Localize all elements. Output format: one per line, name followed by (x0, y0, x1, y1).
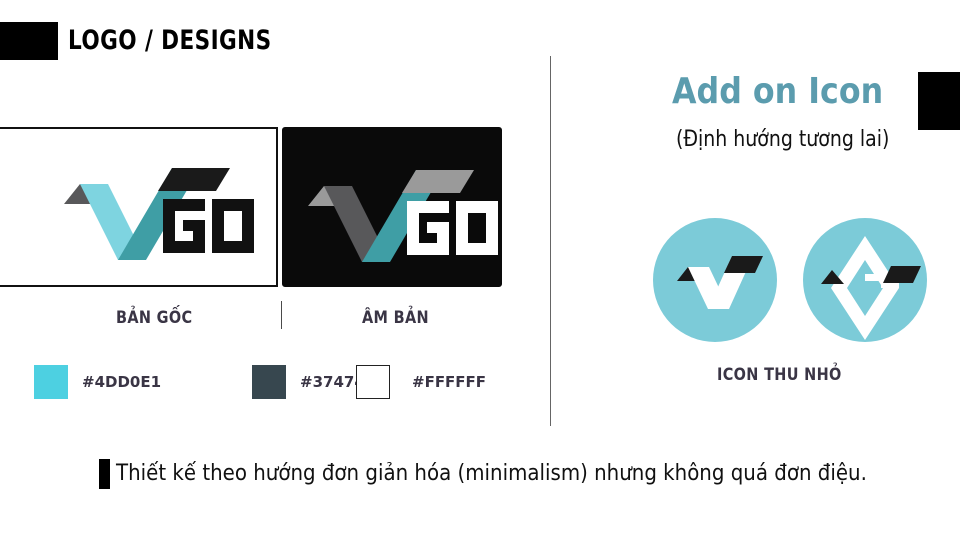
vgo-logo-svg-light (0, 129, 280, 289)
addon-subtitle: (Định hướng tương lai) (676, 127, 889, 153)
icon-accent-bar (724, 256, 763, 273)
logo-accent-bar (158, 168, 230, 191)
logo-wordmark-go (163, 199, 254, 253)
logo-card-original (0, 127, 278, 287)
header-accent-block-right (918, 72, 960, 130)
vgo-logo-negative (284, 129, 500, 285)
vgo-logo-svg-dark (284, 129, 504, 289)
page-title: LOGO / DESIGNS (68, 24, 272, 58)
logo-wordmark-go (407, 201, 498, 255)
header-accent-block (0, 22, 58, 60)
slide-canvas: LOGO / DESIGNS (0, 0, 960, 540)
icon-check-v (653, 218, 777, 342)
icon-monogram-gv-circle (803, 218, 927, 342)
caption-separator (281, 301, 282, 329)
logo-accent-bar (402, 170, 474, 193)
swatch-slate (252, 365, 286, 399)
icon-accent-bar (883, 266, 921, 283)
swatch-white (356, 365, 390, 399)
vgo-logo-original (0, 129, 276, 285)
swatch-white-label: #FFFFFF (412, 373, 486, 391)
caption-negative: ÂM BẢN (362, 308, 429, 328)
swatch-cyan-label: #4DD0E1 (82, 373, 161, 391)
footer-note: Thiết kế theo hướng đơn giản hóa (minima… (116, 460, 867, 488)
footer-accent-bar (99, 459, 110, 489)
icon-check-v-circle (653, 218, 777, 342)
monogram-lower-v (831, 288, 899, 340)
swatch-cyan (34, 365, 68, 399)
caption-original: BẢN GỐC (116, 308, 192, 328)
logo-card-negative (282, 127, 502, 287)
caption-icon-small: ICON THU NHỎ (717, 365, 842, 385)
section-divider (550, 56, 551, 426)
icon-monogram-gv (803, 218, 927, 342)
addon-title: Add on Icon (672, 72, 883, 112)
